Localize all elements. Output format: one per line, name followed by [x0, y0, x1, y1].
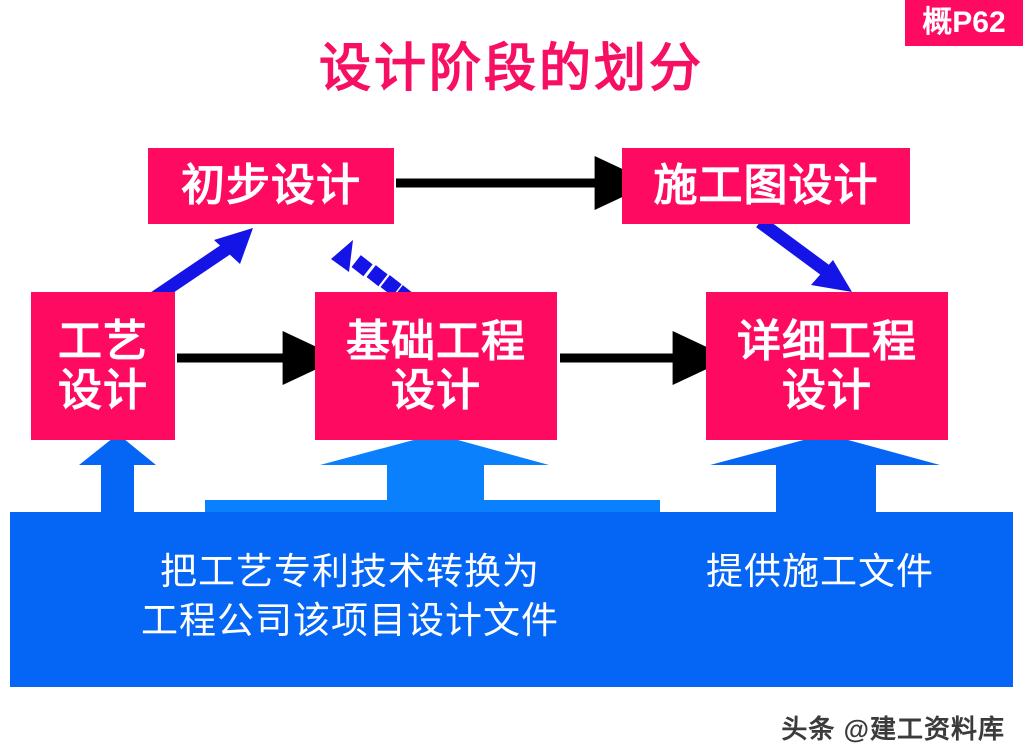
process-box-label: 初步设计 [148, 161, 394, 210]
block-arrow-banner-to-process [79, 434, 156, 512]
block-arrow-banner-to-detail [710, 434, 940, 512]
process-box-preliminary-design[interactable]: 初步设计 [148, 148, 394, 224]
banner-text-left: 把工艺专利技术转换为 工程公司该项目设计文件 [60, 548, 640, 646]
page-title: 设计阶段的划分 [0, 40, 1023, 100]
banner-right-line1: 提供施工文件 [650, 548, 990, 597]
arrow-process-to-prelim [148, 228, 253, 302]
slide-canvas: 概P62 设计阶段的划分 [0, 0, 1023, 754]
process-box-label-line2: 设计 [315, 366, 557, 415]
arrow-constdwg-to-detail [760, 222, 852, 292]
process-box-label-line2: 设计 [31, 366, 175, 415]
process-box-label-line1: 基础工程 [315, 317, 557, 366]
process-box-label-line1: 详细工程 [706, 317, 948, 366]
banner-left-line1: 把工艺专利技术转换为 [60, 548, 640, 597]
process-box-basic-engineering-design[interactable]: 基础工程 设计 [315, 292, 557, 440]
process-box-label-line1: 工艺 [31, 317, 175, 366]
process-box-detailed-engineering-design[interactable]: 详细工程 设计 [706, 292, 948, 440]
process-box-label: 施工图设计 [622, 161, 910, 210]
process-box-construction-drawing-design[interactable]: 施工图设计 [622, 148, 910, 224]
watermark: 头条 @建工资料库 [781, 709, 1005, 746]
banner-text-right: 提供施工文件 [650, 548, 990, 597]
process-box-process-design[interactable]: 工艺 设计 [31, 292, 175, 440]
process-box-label-line2: 设计 [706, 366, 948, 415]
banner-left-line2: 工程公司该项目设计文件 [60, 597, 640, 646]
